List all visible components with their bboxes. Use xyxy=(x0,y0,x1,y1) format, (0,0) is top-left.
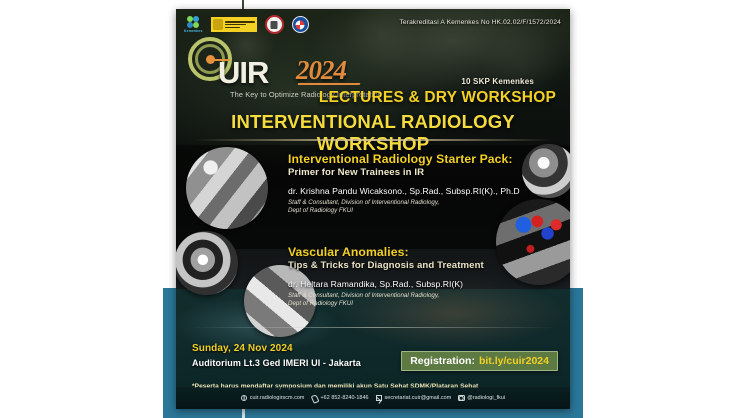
mail-icon xyxy=(376,395,383,402)
cuir-wordmark: UIR xyxy=(218,57,268,88)
registration-link[interactable]: bit.ly/cuir2024 xyxy=(479,355,549,367)
contact-email-text: secretariat.cuir@gmail.com xyxy=(385,395,452,401)
title-divider xyxy=(194,139,552,141)
session-2-affiliation-line2: Dept of Radiology FKUI xyxy=(288,300,353,307)
session-2-speaker: dr. Heltara Ramandika, Sp.Rad., Subsp.RI… xyxy=(288,279,484,289)
kementerian-kesehatan-wordmark xyxy=(225,21,255,28)
instagram-icon xyxy=(458,395,465,402)
contact-website[interactable]: cuir.radiologirscm.com xyxy=(241,395,305,402)
session-block-2: Vascular Anomalies: Tips & Tricks for Di… xyxy=(288,245,484,309)
registration-label: Registration: xyxy=(410,355,475,367)
session-2-affiliation-line1: Staff & Consultant, Division of Interven… xyxy=(288,292,439,299)
session-block-1: Interventional Radiology Starter Pack: P… xyxy=(288,152,520,216)
session-2-title: Vascular Anomalies: xyxy=(288,245,484,259)
lectures-subtitle: LECTURES & DRY WORKSHOP xyxy=(319,89,556,107)
contact-phone-text: +62 852-8240-1846 xyxy=(320,395,368,401)
phone-icon xyxy=(311,395,318,402)
cuir-brand-logo: UIR 2024 The Key to Optimize Radiology I… xyxy=(188,35,408,85)
idi-seal-logo xyxy=(265,15,284,34)
contact-phone[interactable]: +62 852-8240-1846 xyxy=(311,395,368,402)
session-1-speaker: dr. Krishna Pandu Wicaksono., Sp.Rad., S… xyxy=(288,186,520,196)
organizer-logos: Kemenkes xyxy=(184,15,309,34)
session-2-affiliation: Staff & Consultant, Division of Interven… xyxy=(288,292,484,309)
globe-icon xyxy=(241,395,248,402)
kemenkes-mark-icon xyxy=(187,16,200,28)
radiology-image-ct-axial xyxy=(176,231,238,295)
session-1-title: Interventional Radiology Starter Pack: xyxy=(288,152,520,166)
cuir-year: 2024 xyxy=(296,57,346,84)
kementerian-kesehatan-logo xyxy=(211,17,257,32)
contact-instagram[interactable]: @radiologi_fkui xyxy=(458,395,505,402)
event-date: Sunday, 24 Nov 2024 xyxy=(192,343,293,354)
session-1-subtitle: Primer for New Trainees in IR xyxy=(288,167,520,178)
pdsri-seal-logo xyxy=(292,16,309,33)
footer-divider xyxy=(190,327,556,328)
contact-bar: cuir.radiologirscm.com +62 852-8240-1846… xyxy=(176,387,570,409)
session-2-subtitle: Tips & Tricks for Diagnosis and Treatmen… xyxy=(288,260,484,271)
page-title: INTERVENTIONAL RADIOLOGY WORKSHOP xyxy=(231,111,515,154)
session-1-affiliation-line1: Staff & Consultant, Division of Interven… xyxy=(288,199,439,206)
registration-badge[interactable]: Registration: bit.ly/cuir2024 xyxy=(401,351,558,371)
radiology-image-ct-coronal xyxy=(522,144,570,198)
radiology-image-angio-suite xyxy=(186,147,268,229)
garuda-crest-icon xyxy=(213,19,223,30)
session-1-affiliation: Staff & Consultant, Division of Interven… xyxy=(288,199,520,216)
kemenkes-logo: Kemenkes xyxy=(184,16,203,33)
contact-instagram-text: @radiologi_fkui xyxy=(467,395,505,401)
contact-website-text: cuir.radiologirscm.com xyxy=(250,395,305,401)
kemenkes-logo-label: Kemenkes xyxy=(184,29,203,33)
contact-email[interactable]: secretariat.cuir@gmail.com xyxy=(376,395,452,402)
session-1-affiliation-line2: Dept of Radiology FKUI xyxy=(288,207,353,214)
skp-credits: 10 SKP Kemenkes xyxy=(461,77,534,86)
poster-canvas: Kemenkes Terakreditasi A Kemenkes No HK.… xyxy=(0,0,744,418)
event-venue: Auditorium Lt.3 Ged IMERI UI - Jakarta xyxy=(192,358,361,368)
accreditation-text: Terakreditasi A Kemenkes No HK.02.02/F/1… xyxy=(399,19,561,26)
event-poster: Kemenkes Terakreditasi A Kemenkes No HK.… xyxy=(176,9,570,409)
